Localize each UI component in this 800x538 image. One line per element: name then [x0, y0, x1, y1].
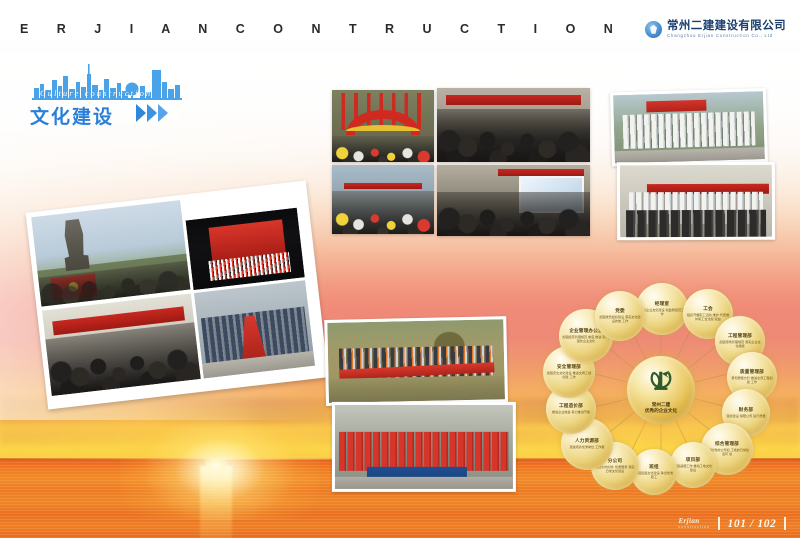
- page-number: 101 / 102: [728, 518, 777, 530]
- org-node-title: 工会: [703, 307, 713, 313]
- org-node: 党委 加强党员组织建设 落实文化建设的统 工作: [595, 291, 645, 341]
- org-node-title: 项目部: [686, 458, 700, 464]
- photo-group-photo-banner: [610, 88, 768, 166]
- footer-brand-line1: Erjian: [678, 518, 709, 525]
- photo-outdoor-rally: [332, 165, 434, 234]
- company-seal-icon: [645, 21, 662, 38]
- org-node-desc: 加强经营管理规范 制度 推进 职 专 强化企业文化: [562, 335, 610, 343]
- org-node-title: 综合管理部: [715, 442, 739, 448]
- page-title: E R J I A N C O N T R U C T I O N: [20, 22, 625, 36]
- center-bottom-photo-collage: [324, 316, 514, 490]
- sun-reflection-path: [200, 466, 232, 538]
- photo-ceremony-redbanner: [617, 162, 775, 241]
- org-node-title: 质量管理部: [740, 370, 764, 376]
- footer-divider-left: [718, 517, 720, 530]
- org-node: 项目部 实施基层工作 推动工地文化建设: [670, 442, 716, 488]
- photo-indoor-meeting: [42, 293, 201, 396]
- org-node-desc: 加强党员组织建设 落实文化建设的统 工作: [598, 315, 642, 323]
- corporate-culture-org-chart: 常州二建 优秀的企业文化 经理室 组织企业文化建设 和监督经营工作 工会 组织开…: [531, 281, 789, 499]
- photo-training-projector: [437, 165, 590, 236]
- company-name-en: Changzhou Erjian Construction Co., Ltd: [667, 34, 786, 38]
- photo-red-uniform-group: [332, 402, 516, 492]
- org-node-title: 人力资源部: [575, 439, 599, 445]
- photo-outdoor-team-banner: [324, 316, 508, 406]
- org-center-title-2: 优秀的企业文化: [645, 409, 677, 416]
- section-heading: Culture construction 文化建设: [28, 62, 198, 134]
- org-node-title: 党委: [615, 309, 625, 315]
- company-name-cn: 常州二建建设有限公司: [667, 20, 786, 32]
- org-center-node: 常州二建 优秀的企业文化: [627, 356, 695, 424]
- chevron-right-icon: [136, 104, 168, 122]
- org-node-title: 工程造价部: [559, 404, 583, 410]
- section-label-cn: 文化建设: [30, 102, 114, 129]
- org-node-title: 安全管理部: [557, 365, 581, 371]
- footer-divider-right: [784, 517, 786, 530]
- org-node-title: 班组: [649, 465, 659, 471]
- org-node-desc: 贯彻质量方针 推进全员工程创建 工作: [730, 376, 774, 384]
- photo-conference-hall: [437, 88, 590, 162]
- org-node-desc: 加强现场管理规范 落实企业文化措施: [718, 340, 762, 348]
- org-node-desc: 组织开展职工活动 维护 代表维护职工合法权 权益: [686, 313, 730, 321]
- photo-statue-visit: [31, 200, 190, 307]
- company-emblem-icon: [648, 368, 674, 394]
- page-header: E R J I A N C O N T R U C T I O N 常州二建建设…: [0, 0, 800, 52]
- org-node-desc: 强化对内对外 优质服务 落实日常文化建设: [594, 465, 636, 473]
- org-node-title: 财务部: [739, 408, 753, 414]
- top-right-photo-collage: [610, 88, 782, 243]
- org-node-desc: 加强安全文化建设 推进文明工地创建 工作: [546, 371, 592, 379]
- top-center-photo-collage: [332, 88, 590, 236]
- org-node-desc: 实施基层工作 推动工地文化建设: [673, 464, 713, 472]
- section-label-en: Culture construction: [40, 88, 152, 98]
- org-node-title: 工程管理部: [728, 334, 752, 340]
- org-node-desc: 组织企业文化建设 和监督经营工作: [639, 308, 685, 316]
- org-node-title: 分公司: [608, 459, 622, 465]
- org-node-desc: 推进企业效益 有力推进节能: [552, 410, 590, 414]
- company-logo-text: 常州二建建设有限公司 Changzhou Erjian Construction…: [667, 20, 786, 38]
- left-photo-collage: [26, 180, 329, 409]
- org-node-desc: 加强班组文化建设 争当优秀职工: [634, 471, 674, 479]
- page-footer: Erjian construction 101 / 102: [678, 517, 786, 530]
- org-node-title: 企业管理办公室: [569, 329, 603, 335]
- footer-brand-line2: construction: [678, 526, 709, 529]
- org-node-title: 经理室: [655, 302, 669, 308]
- org-node-desc: 强化建设 保障公司 运行质量: [726, 414, 765, 418]
- photo-opening-ceremony: [332, 90, 434, 162]
- company-logo: 常州二建建设有限公司 Changzhou Erjian Construction…: [645, 20, 786, 38]
- sun-disc: [205, 458, 227, 474]
- photo-site-visit: [194, 280, 315, 378]
- footer-brand: Erjian construction: [678, 518, 709, 530]
- photo-choir-stage: [185, 208, 304, 290]
- org-node-desc: 选拔培养优秀岗位 工作者: [569, 445, 604, 449]
- brochure-page: E R J I A N C O N T R U C T I O N 常州二建建设…: [0, 0, 800, 538]
